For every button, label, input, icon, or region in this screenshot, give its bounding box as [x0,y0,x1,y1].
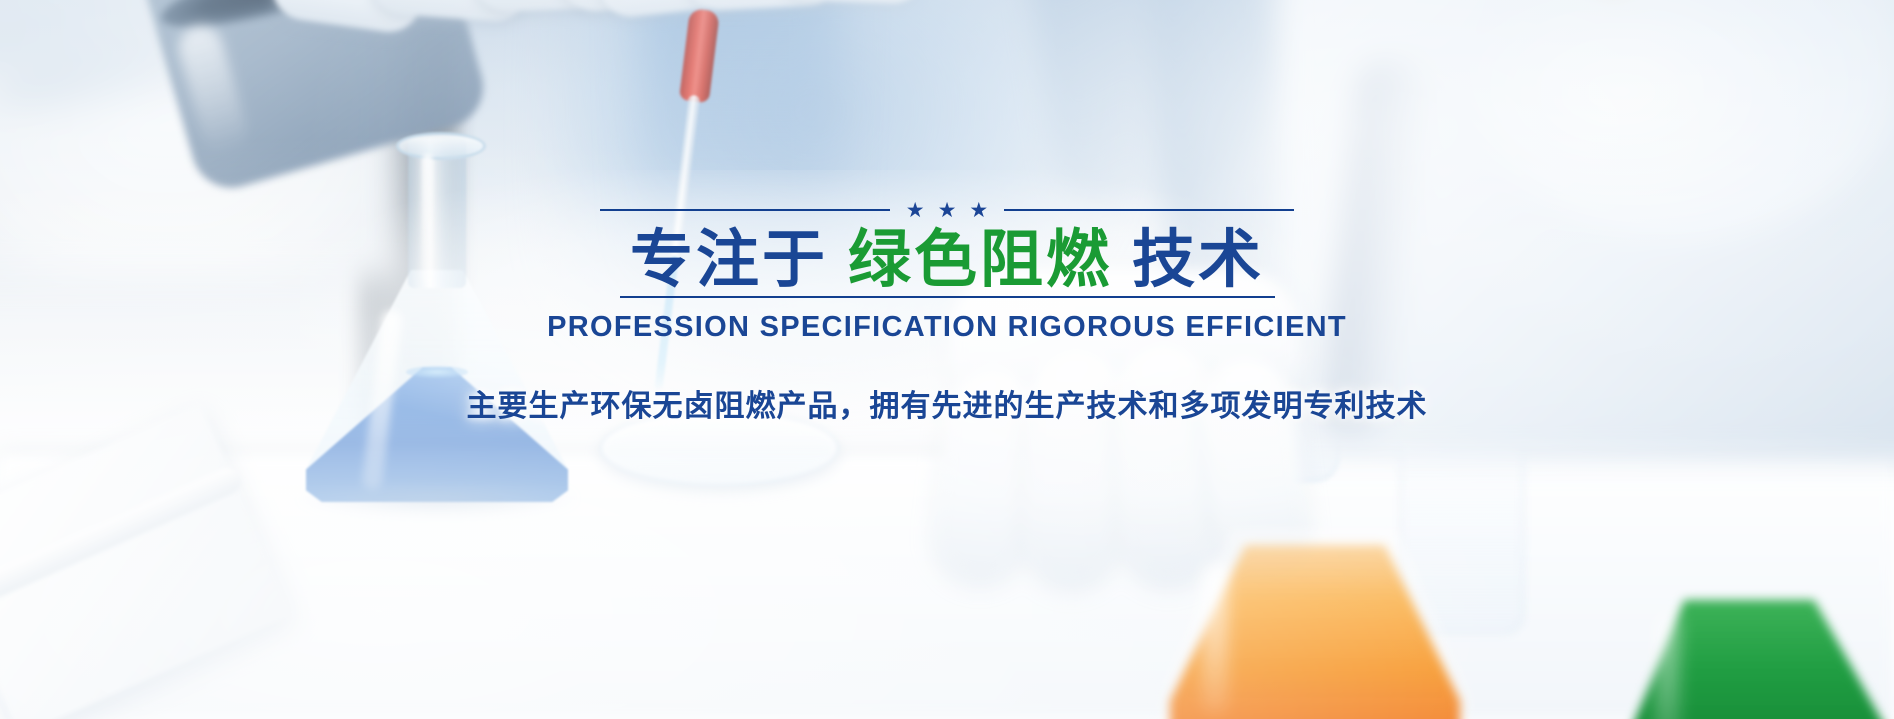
flask-orange-liquid [1170,545,1460,719]
star-icon: ★ [938,200,957,221]
rule-right [1004,209,1294,211]
headline-part-2: 绿色阻燃 [848,223,1112,296]
star-group: ★ ★ ★ [900,200,994,221]
gloved-hand-right [600,0,930,100]
banner-content: ★ ★ ★ 专注于绿色阻燃技术 PROFESSION SPECIFICATION… [0,200,1894,425]
star-icon: ★ [906,200,925,221]
headline-part-1: 专注于 [630,223,828,296]
star-icon: ★ [969,200,988,221]
rule-under-headline [620,296,1275,298]
headline: 专注于绿色阻燃技术 [0,226,1894,294]
headline-part-3: 技术 [1132,223,1264,296]
description-text: 主要生产环保无卤阻燃产品，拥有先进的生产技术和多项发明专利技术 [0,381,1894,425]
hero-banner: ★ ★ ★ 专注于绿色阻燃技术 PROFESSION SPECIFICATION… [0,0,1894,719]
rule-left [600,209,890,211]
flask-green-liquid [1625,600,1894,719]
subtitle-english: PROFESSION SPECIFICATION RIGOROUS EFFICI… [0,311,1894,344]
decorative-rule-with-stars: ★ ★ ★ [0,200,1894,220]
